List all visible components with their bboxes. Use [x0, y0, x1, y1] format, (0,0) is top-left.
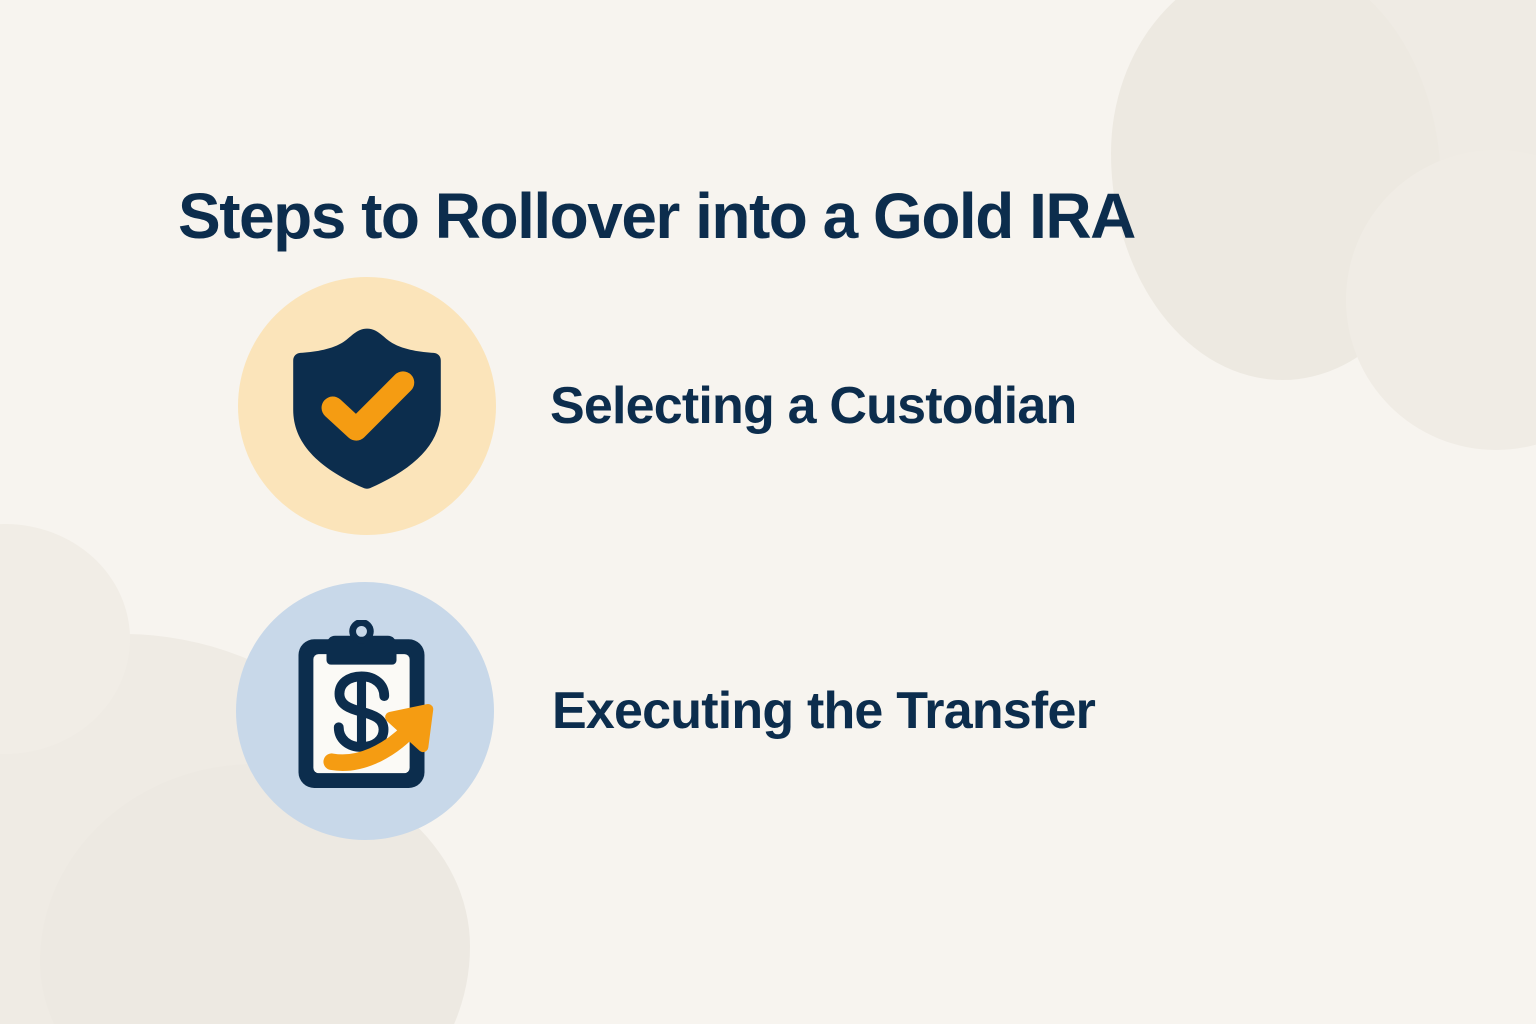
infographic-canvas: Steps to Rollover into a Gold IRA Select…: [0, 0, 1536, 1024]
shield-check-icon: [277, 316, 457, 496]
step-icon-badge: [236, 582, 494, 840]
step-icon-badge: [238, 277, 496, 535]
page-title: Steps to Rollover into a Gold IRA: [178, 183, 1135, 250]
step-label: Selecting a Custodian: [550, 376, 1076, 436]
clipboard-dollar-growth-icon: [276, 620, 454, 802]
step-item-executing-the-transfer: Executing the Transfer: [236, 582, 1095, 840]
step-label: Executing the Transfer: [552, 681, 1095, 741]
step-item-selecting-a-custodian: Selecting a Custodian: [238, 277, 1076, 535]
infographic-content: Steps to Rollover into a Gold IRA Select…: [0, 0, 1536, 1024]
